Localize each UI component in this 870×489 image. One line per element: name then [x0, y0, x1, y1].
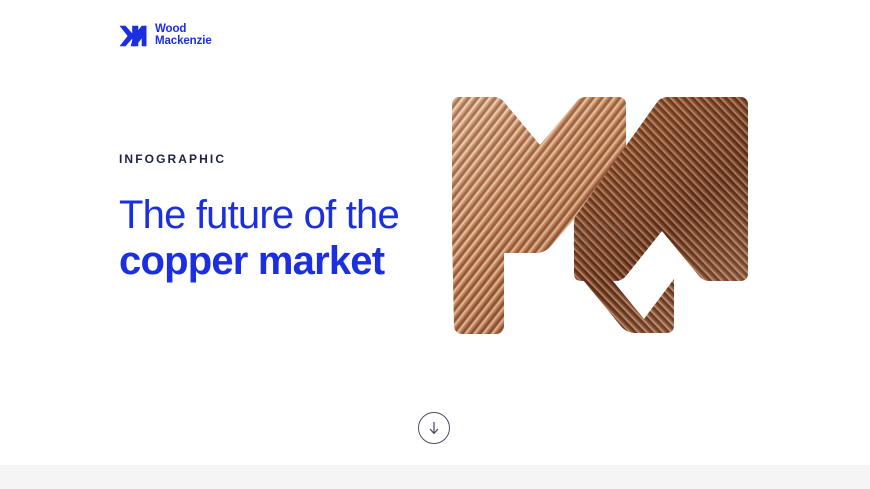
page-title-line-2: copper market: [119, 238, 449, 284]
bottom-band: [0, 465, 870, 489]
wm-chevron-mark-icon: [119, 25, 147, 47]
copper-chevron-artwork: ges: [448, 93, 752, 360]
logo-word-line-1: Wood: [155, 24, 212, 36]
logo-wordmark: Wood Mackenzie: [155, 24, 212, 47]
copper-artwork-graphic: [448, 93, 752, 360]
page-header: Wood Mackenzie: [0, 0, 870, 78]
content-type-eyebrow: INFOGRAPHIC: [119, 152, 449, 166]
page-title-line-1: The future of the: [119, 192, 449, 238]
hero-copy-block: INFOGRAPHIC The future of the copper mar…: [119, 152, 449, 285]
scroll-down-button[interactable]: [418, 412, 450, 444]
infographic-hero-page: Wood Mackenzie INFOGRAPHIC The future of…: [0, 0, 870, 489]
wood-mackenzie-logo[interactable]: Wood Mackenzie: [119, 24, 212, 47]
logo-word-line-2: Mackenzie: [155, 36, 212, 48]
page-title: The future of the copper market: [119, 192, 449, 285]
arrow-down-icon: [427, 420, 441, 436]
